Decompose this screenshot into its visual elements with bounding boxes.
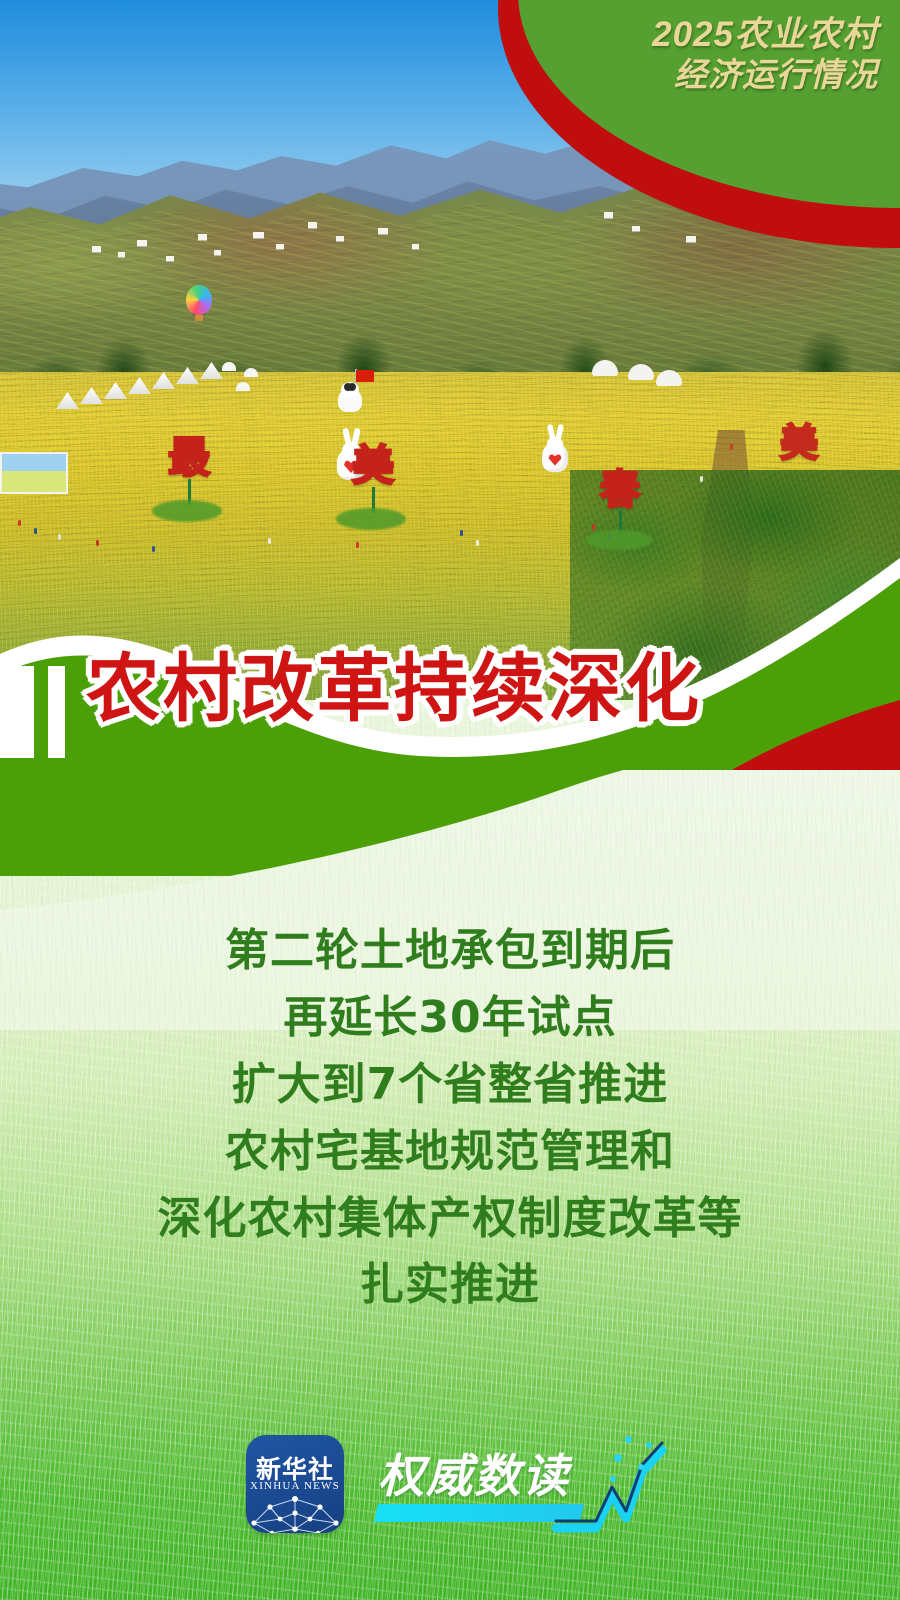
visitor bbox=[700, 476, 703, 482]
program-name: 权威数读 bbox=[378, 1440, 570, 1506]
body-line: 农村宅基地规范管理和 bbox=[0, 1119, 900, 1186]
china-flag-icon bbox=[356, 370, 374, 382]
accent-dot bbox=[614, 1454, 622, 1462]
title-accent-bars bbox=[0, 666, 82, 758]
accent-dot bbox=[610, 1476, 616, 1482]
village-house bbox=[137, 240, 147, 246]
village-house bbox=[632, 226, 640, 231]
header-line-1: 2025农业农村 bbox=[578, 16, 878, 54]
village-house bbox=[686, 236, 696, 242]
topiary-character: 美 bbox=[352, 445, 394, 487]
panda-mascot bbox=[336, 378, 364, 412]
village-house bbox=[276, 244, 284, 249]
footer: 新华社 XINHUA NEWS bbox=[246, 1432, 666, 1544]
title-accent-bar-narrow bbox=[48, 666, 65, 758]
body-line: 扎实推进 bbox=[0, 1252, 900, 1319]
body-line: 再延长30年试点 bbox=[0, 985, 900, 1052]
page-title: 农村改革持续深化 bbox=[86, 648, 786, 731]
program-badge[interactable]: 权威数读 bbox=[374, 1432, 666, 1544]
hot-air-balloon-icon bbox=[186, 285, 212, 315]
trend-chart-icon bbox=[550, 1432, 670, 1544]
network-globe-icon bbox=[246, 1489, 344, 1533]
visitor bbox=[34, 528, 37, 534]
title-accent-bar-wide bbox=[0, 666, 34, 758]
village-house bbox=[92, 246, 101, 252]
village-house bbox=[604, 212, 613, 218]
visitor bbox=[460, 530, 463, 536]
dome-tent bbox=[236, 382, 250, 391]
accent-dot bbox=[646, 1442, 652, 1448]
header-title-block: 2025农业农村 经济运行情况 bbox=[578, 16, 878, 92]
visitor bbox=[152, 546, 155, 552]
panda-head bbox=[341, 382, 359, 397]
village-house bbox=[253, 232, 264, 238]
topiary-base bbox=[586, 530, 652, 550]
dome-tent bbox=[222, 362, 236, 371]
rabbit-mascot bbox=[539, 428, 570, 472]
header-line-2-rest: 运行情况 bbox=[742, 56, 878, 93]
village-house bbox=[198, 234, 207, 240]
topiary-character: 春 bbox=[600, 470, 640, 510]
body-line: 扩大到7个省整省推进 bbox=[0, 1052, 900, 1119]
village-house bbox=[412, 244, 419, 249]
accent-dot bbox=[638, 1464, 644, 1470]
billboard-sign bbox=[0, 452, 68, 494]
header-line-2: 经济运行情况 bbox=[578, 57, 878, 93]
dome-tent bbox=[244, 368, 258, 377]
body-line: 深化农村集体产权制度改革等 bbox=[0, 1186, 900, 1253]
rabbit-head bbox=[547, 437, 564, 452]
body-line: 第二轮土地承包到期后 bbox=[0, 918, 900, 985]
header-line-2-bold: 经济 bbox=[674, 56, 742, 93]
village-house bbox=[308, 222, 317, 228]
visitor bbox=[356, 542, 359, 548]
visitor bbox=[58, 534, 61, 540]
visitor bbox=[18, 520, 21, 526]
village-house bbox=[118, 252, 125, 257]
village-house bbox=[166, 256, 174, 261]
topiary-base bbox=[336, 508, 406, 530]
visitor bbox=[96, 540, 99, 546]
village-house bbox=[214, 250, 221, 255]
topiary-character: 最 bbox=[168, 437, 210, 479]
visitor bbox=[268, 538, 271, 544]
village-house bbox=[378, 228, 388, 234]
xinhua-news-logo[interactable]: 新华社 XINHUA NEWS bbox=[246, 1435, 344, 1533]
panda-ear-right bbox=[348, 383, 356, 391]
topiary-character: 美 bbox=[780, 424, 818, 462]
visitor bbox=[476, 540, 479, 546]
village-house bbox=[336, 236, 344, 241]
visitor bbox=[730, 444, 733, 450]
poster-root: 最 美 春 美 2025农业农村 经济运行情况 bbox=[0, 0, 900, 1600]
accent-dot bbox=[625, 1436, 632, 1443]
topiary-base bbox=[152, 500, 222, 522]
body-copy: 第二轮土地承包到期后 再延长30年试点 扩大到7个省整省推进 农村宅基地规范管理… bbox=[0, 918, 900, 1319]
visitor bbox=[592, 524, 595, 530]
